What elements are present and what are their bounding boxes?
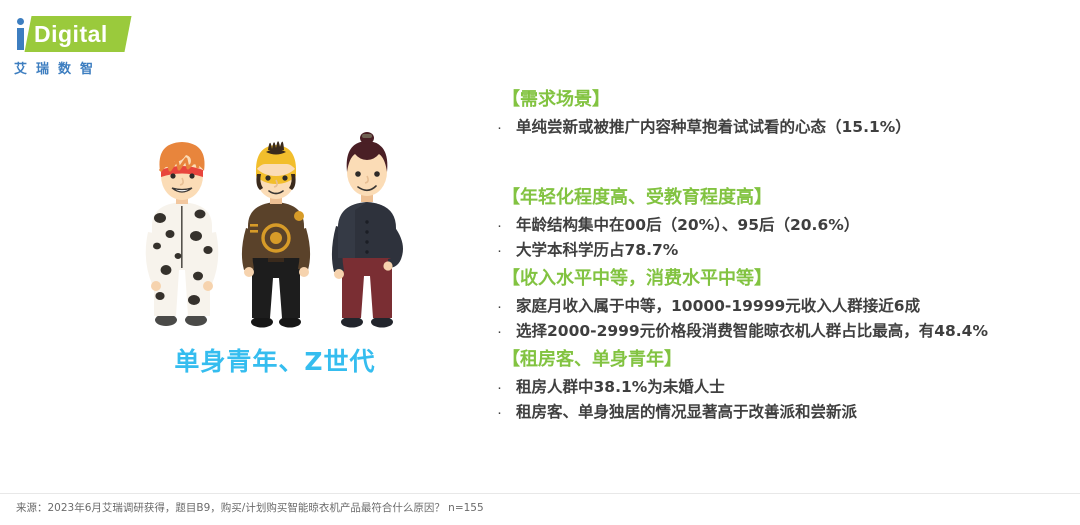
bullet-text: 年龄结构集中在00后（20%）、95后（20.6%） bbox=[516, 213, 859, 238]
insight-section: 【收入水平中等，消费水平中等】 · 家庭月收入属于中等，10000-19999元… bbox=[490, 267, 1070, 344]
figure-top-knot bbox=[332, 132, 403, 328]
logo-i-dot-icon bbox=[17, 18, 24, 25]
figure-orange-hair bbox=[146, 142, 219, 326]
bullet-dot-icon: · bbox=[490, 319, 516, 344]
insight-list: 【需求场景】 · 单纯尝新或被推广内容种草抱着试试看的心态（15.1%） 【年轻… bbox=[490, 88, 1070, 429]
logo-i-stem-icon bbox=[17, 28, 24, 50]
brand-logo: Digital 艾瑞数智 bbox=[14, 16, 154, 78]
illustration-caption: 单身青年、Z世代 bbox=[130, 342, 420, 378]
bullet-text: 租房客、单身独居的情况显著高于改善派和尝新派 bbox=[516, 400, 857, 425]
bullet-dot-icon: · bbox=[490, 375, 516, 400]
bullet-dot-icon: · bbox=[490, 400, 516, 425]
bullet-dot-icon: · bbox=[490, 213, 516, 238]
figure-yellow-cap bbox=[242, 141, 310, 327]
bullet-dot-icon: · bbox=[490, 115, 516, 140]
bullet-item: · 家庭月收入属于中等，10000-19999元收入人群接近6成 bbox=[490, 294, 1070, 319]
bullet-item: · 租房客、单身独居的情况显著高于改善派和尝新派 bbox=[490, 400, 1070, 425]
three-young-men-illustration bbox=[130, 130, 420, 330]
footer-divider bbox=[0, 493, 1080, 494]
bullet-item: · 选择2000-2999元价格段消费智能晾衣机人群占比最高，有48.4% bbox=[490, 319, 1070, 344]
source-note: 来源：2023年6月艾瑞调研获得，题目B9，购买/计划购买智能晾衣机产品最符合什… bbox=[16, 500, 484, 515]
insight-section: 【租房客、单身青年】 · 租房人群中38.1%为未婚人士 · 租房客、单身独居的… bbox=[490, 348, 1070, 425]
section-heading: 【需求场景】 bbox=[502, 88, 1070, 112]
logo-mark: Digital bbox=[14, 16, 144, 52]
bullet-item: · 大学本科学历占78.7% bbox=[490, 238, 1070, 263]
bullet-item: · 年龄结构集中在00后（20%）、95后（20.6%） bbox=[490, 213, 1070, 238]
bullet-text: 选择2000-2999元价格段消费智能晾衣机人群占比最高，有48.4% bbox=[516, 319, 988, 344]
logo-wordmark: Digital bbox=[34, 20, 134, 50]
bullet-text: 租房人群中38.1%为未婚人士 bbox=[516, 375, 725, 400]
bullet-text: 家庭月收入属于中等，10000-19999元收入人群接近6成 bbox=[516, 294, 920, 319]
section-heading: 【年轻化程度高、受教育程度高】 bbox=[502, 186, 1070, 210]
bullet-dot-icon: · bbox=[490, 238, 516, 263]
bullet-item: · 单纯尝新或被推广内容种草抱着试试看的心态（15.1%） bbox=[490, 115, 1070, 140]
section-heading: 【租房客、单身青年】 bbox=[502, 348, 1070, 372]
insight-section: 【需求场景】 · 单纯尝新或被推广内容种草抱着试试看的心态（15.1%） bbox=[490, 88, 1070, 140]
section-heading: 【收入水平中等，消费水平中等】 bbox=[502, 267, 1070, 291]
insight-section: 【年轻化程度高、受教育程度高】 · 年龄结构集中在00后（20%）、95后（20… bbox=[490, 186, 1070, 263]
bullet-dot-icon: · bbox=[490, 294, 516, 319]
bullet-text: 单纯尝新或被推广内容种草抱着试试看的心态（15.1%） bbox=[516, 115, 911, 140]
bullet-item: · 租房人群中38.1%为未婚人士 bbox=[490, 375, 1070, 400]
bullet-text: 大学本科学历占78.7% bbox=[516, 238, 678, 263]
logo-subtitle: 艾瑞数智 bbox=[14, 58, 154, 77]
